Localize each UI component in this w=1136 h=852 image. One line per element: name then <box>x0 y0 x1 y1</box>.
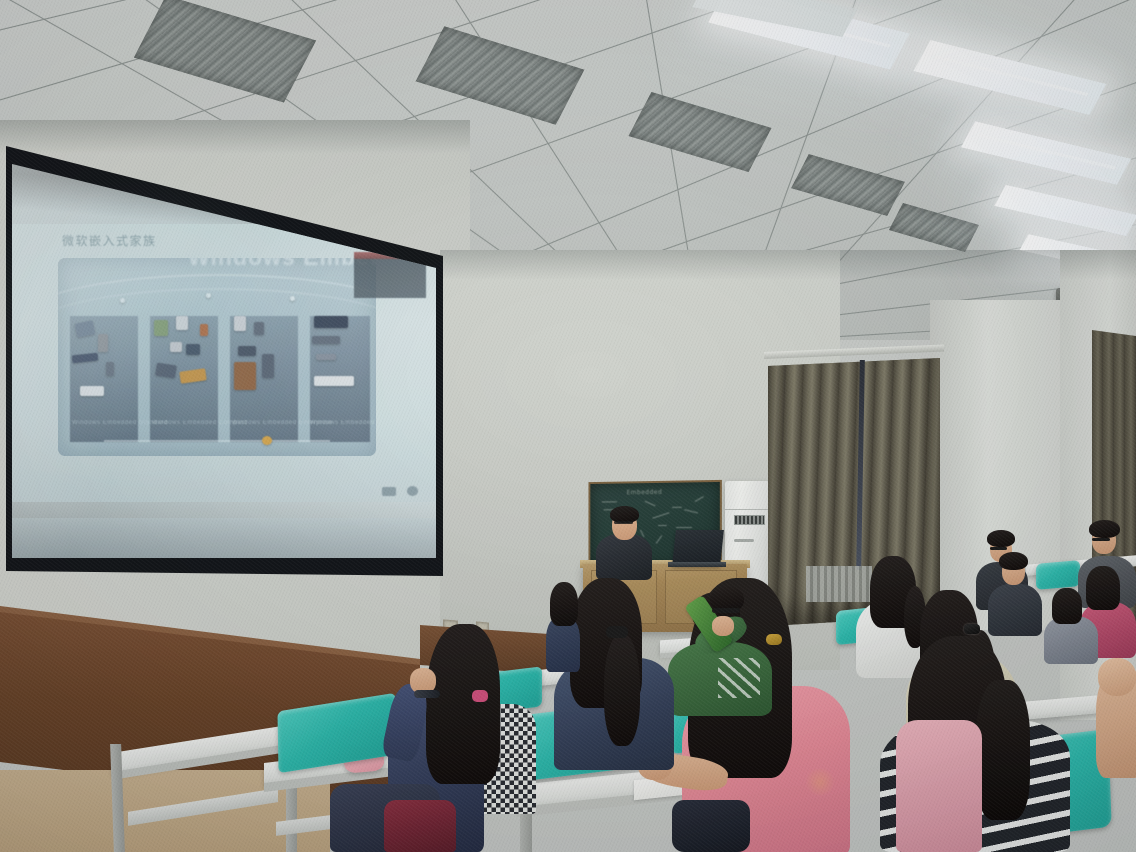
student-navy-hoodie <box>546 582 580 672</box>
ac-vent <box>734 539 754 542</box>
instructor-laptop[interactable] <box>672 530 724 566</box>
wall-ceiling-shadow <box>0 120 470 154</box>
hair-clip <box>964 624 980 634</box>
projected-slide: 微软嵌入式家族 Windows Embedded <box>12 224 436 502</box>
ac-grille-icon <box>734 515 765 525</box>
screen-lower-band <box>12 518 436 558</box>
student-hand-right-edge <box>1098 658 1136 696</box>
slide-column-label: Windows Embedded Server <box>310 420 376 426</box>
ponytail <box>604 634 640 746</box>
instructor <box>594 504 664 574</box>
shirt-embroidery <box>804 768 836 796</box>
student-hair <box>426 624 500 784</box>
glasses-icon <box>712 608 740 613</box>
chair-back[interactable] <box>1036 560 1080 590</box>
slide-diagram: Windows Embedded <box>58 258 376 456</box>
student-glasses-mid <box>700 586 756 646</box>
hair-tie <box>472 690 488 702</box>
backpack-right <box>672 800 750 852</box>
red-bag <box>384 800 456 852</box>
hair-tie <box>606 626 628 638</box>
classroom-photo: 微软嵌入式家族 Windows Embedded <box>0 0 1136 852</box>
student-hair-strands <box>976 680 1030 820</box>
wall-ceiling-shadow-back <box>440 250 1136 280</box>
instructor-glasses <box>614 521 633 524</box>
shirt-print <box>718 658 760 698</box>
slide-footer-logo <box>382 487 396 496</box>
slide-title: 微软嵌入式家族 <box>62 232 157 249</box>
instructor-torso <box>596 534 652 580</box>
pink-jacket <box>896 720 982 852</box>
chalkboard-heading: Embedded <box>627 489 663 496</box>
instructor-laptop-base[interactable] <box>668 562 726 567</box>
wristband <box>414 690 440 698</box>
slide-footer-logo <box>407 486 418 496</box>
slide-wordmark: Windows Embedded <box>188 258 376 271</box>
slide-timeline <box>104 440 330 442</box>
